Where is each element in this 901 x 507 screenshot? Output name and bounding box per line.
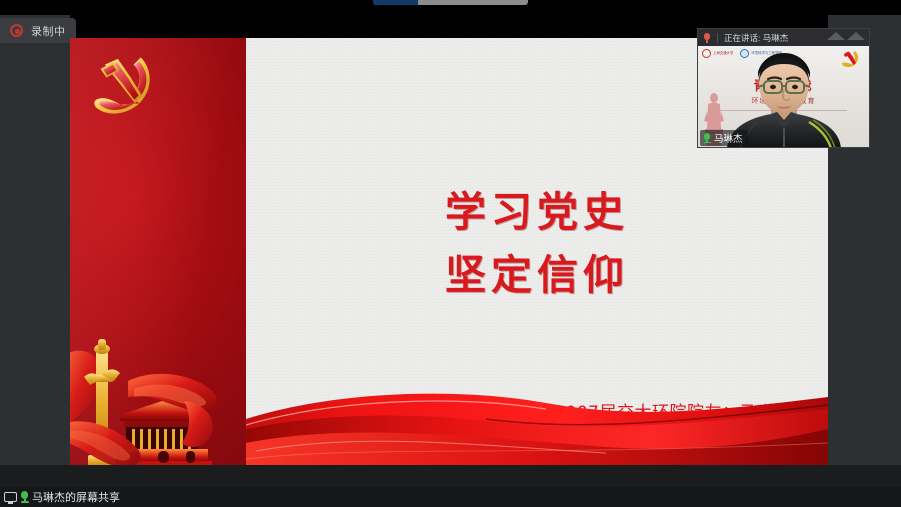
screen-share-label: 马琳杰的屏幕共享: [32, 489, 120, 505]
thumbnail-header: 正在讲话: 马琳杰: [698, 29, 869, 46]
slide-title-line2: 坚定信仰: [246, 241, 828, 301]
slide-title-line1: 学习党史: [246, 178, 828, 238]
monitor-icon: [4, 492, 17, 502]
chevron-collapse-icon[interactable]: [827, 32, 865, 40]
zoom-meeting-window: 录制中: [0, 0, 901, 507]
record-dot-icon: [10, 24, 23, 37]
microphone-icon: [20, 491, 29, 504]
recording-label: 录制中: [31, 23, 66, 39]
recording-indicator[interactable]: 录制中: [0, 18, 76, 43]
window-left-letterbox: [0, 15, 70, 487]
active-speaker-thumbnail[interactable]: 正在讲话: 马琳杰 上海交通大学 环境科学与工程学院: [697, 28, 870, 148]
speaking-mic-icon: [703, 33, 711, 43]
tiananmen-huabiao-artwork: [70, 331, 264, 465]
red-ribbon-wave-graphic: [246, 385, 828, 465]
participant-name-label: 马琳杰: [714, 131, 743, 145]
toolbar-handle-accent: [373, 0, 418, 5]
screen-share-status: 马琳杰的屏幕共享: [4, 489, 120, 505]
participant-name-badge: 马琳杰: [700, 130, 748, 146]
party-hammer-sickle-emblem: [84, 50, 166, 128]
thumbnail-video-body: 上海交通大学 环境科学与工程学院 青: [698, 46, 869, 148]
active-speaker-label: 正在讲话: 马琳杰: [724, 32, 788, 44]
collapsed-toolbar-handle[interactable]: [373, 0, 528, 5]
bottom-status-bar: [0, 487, 901, 507]
microphone-icon: [703, 133, 711, 144]
header-divider: [717, 33, 718, 43]
